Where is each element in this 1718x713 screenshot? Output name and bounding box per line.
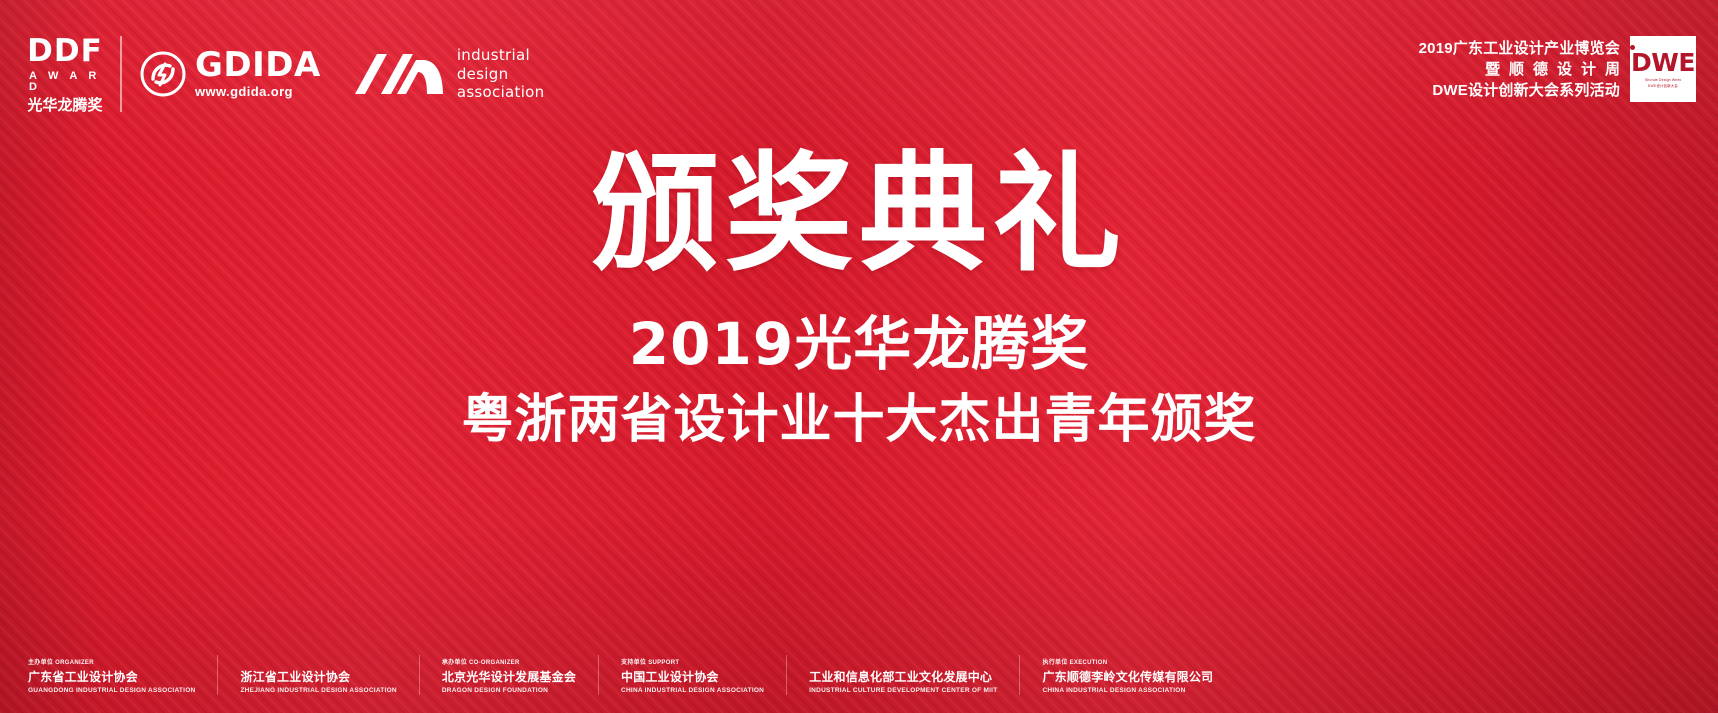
sponsor-entry: 承办单位 CO-ORGANIZER北京光华设计发展基金会DRAGON DESIG… [442,655,599,695]
ida-line-industrial: industrial [457,46,545,65]
event-info-line-2: 暨顺德设计周 [1485,62,1629,77]
sponsor-name-en: INDUSTRIAL CULTURE DEVELOPMENT CENTER OF… [809,686,997,695]
dwe-sub-line-1: Shunde Design Week [1645,78,1681,83]
event-info-block: 2019广东工业设计产业博览会 暨顺德设计周 DWE设计创新大会系列活动 DWE… [1419,36,1696,102]
sponsor-name-en: CHINA INDUSTRIAL DESIGN ASSOCIATION [621,686,764,695]
event-info-lines: 2019广东工业设计产业博览会 暨顺德设计周 DWE设计创新大会系列活动 [1419,41,1620,98]
gdida-emblem-icon [140,51,186,97]
gdida-logo: GDIDA www.gdida.org [122,36,339,112]
dwe-wordmark: DWE [1631,50,1695,75]
sponsor-name-en: CHINA INDUSTRIAL DESIGN ASSOCIATION [1042,686,1213,695]
sponsor-entry: 浙江省工业设计协会ZHEJIANG INDUSTRIAL DESIGN ASSO… [240,655,419,695]
sponsor-name-en: DRAGON DESIGN FOUNDATION [442,686,576,695]
sponsor-role-label: 承办单位 CO-ORGANIZER [442,660,576,668]
gdida-url: www.gdida.org [195,84,321,99]
sponsor-name-cn: 广东顺德李岭文化传媒有限公司 [1042,668,1213,686]
sponsor-entry: 支持单位 SUPPORT中国工业设计协会CHINA INDUSTRIAL DES… [621,655,787,695]
sponsor-role-label: 支持单位 SUPPORT [621,660,764,668]
sponsor-entry: 执行单位 EXECUTION广东顺德李岭文化传媒有限公司CHINA INDUST… [1042,655,1213,695]
ida-logo: industrial design association [339,36,545,112]
sponsor-entry: 工业和信息化部工业文化发展中心INDUSTRIAL CULTURE DEVELO… [809,655,1020,695]
dwe-logo: DWE Shunde Design Week DWE设计创新大会 [1630,36,1696,102]
main-title-group: 颁奖典礼 2019光华龙腾奖 粤浙两省设计业十大杰出青年颁奖 [0,150,1718,450]
sponsor-name-cn: 广东省工业设计协会 [28,668,195,686]
dwe-wordmark-text: DWE [1631,48,1695,77]
ddf-chinese-name: 光华龙腾奖 [27,98,102,113]
ida-emblem-icon [353,50,445,98]
event-info-line-1: 2019广东工业设计产业博览会 [1419,41,1620,56]
dwe-sub-line-2: DWE设计创新大会 [1648,84,1678,89]
sponsor-entry: 主办单位 ORGANIZER广东省工业设计协会GUANGDONG INDUSTR… [28,655,218,695]
ddf-award-logo: DDF A W A R D 光华龙腾奖 [26,36,122,112]
sponsor-role-label: 执行单位 EXECUTION [1042,660,1213,668]
event-backdrop: DDF A W A R D 光华龙腾奖 GDIDA www.gdida.org [0,0,1718,713]
main-title: 颁奖典礼 [591,150,1127,281]
sponsor-name-cn: 浙江省工业设计协会 [240,668,396,686]
ida-line-association: association [457,83,545,102]
gdida-wordmark: GDIDA [195,49,321,81]
partner-logo-bar: DDF A W A R D 光华龙腾奖 GDIDA www.gdida.org [26,36,544,112]
subtitle-line-1: 2019光华龙腾奖 [629,313,1089,377]
sponsor-role-label: 主办单位 ORGANIZER [28,660,195,668]
ida-line-design: design [457,65,545,84]
subtitle-line-2: 粤浙两省设计业十大杰出青年颁奖 [461,392,1256,449]
ddf-logo-letters: DDF [27,36,103,67]
sponsor-name-cn: 北京光华设计发展基金会 [442,668,576,686]
sponsor-name-en: GUANGDONG INDUSTRIAL DESIGN ASSOCIATION [28,686,195,695]
sponsor-strip: 主办单位 ORGANIZER广东省工业设计协会GUANGDONG INDUSTR… [28,655,1213,695]
sponsor-name-cn: 工业和信息化部工业文化发展中心 [809,668,997,686]
ddf-award-label: A W A R D [29,71,104,93]
sponsor-name-cn: 中国工业设计协会 [621,668,764,686]
sponsor-name-en: ZHEJIANG INDUSTRIAL DESIGN ASSOCIATION [240,686,396,695]
event-info-line-3: DWE设计创新大会系列活动 [1432,83,1620,98]
